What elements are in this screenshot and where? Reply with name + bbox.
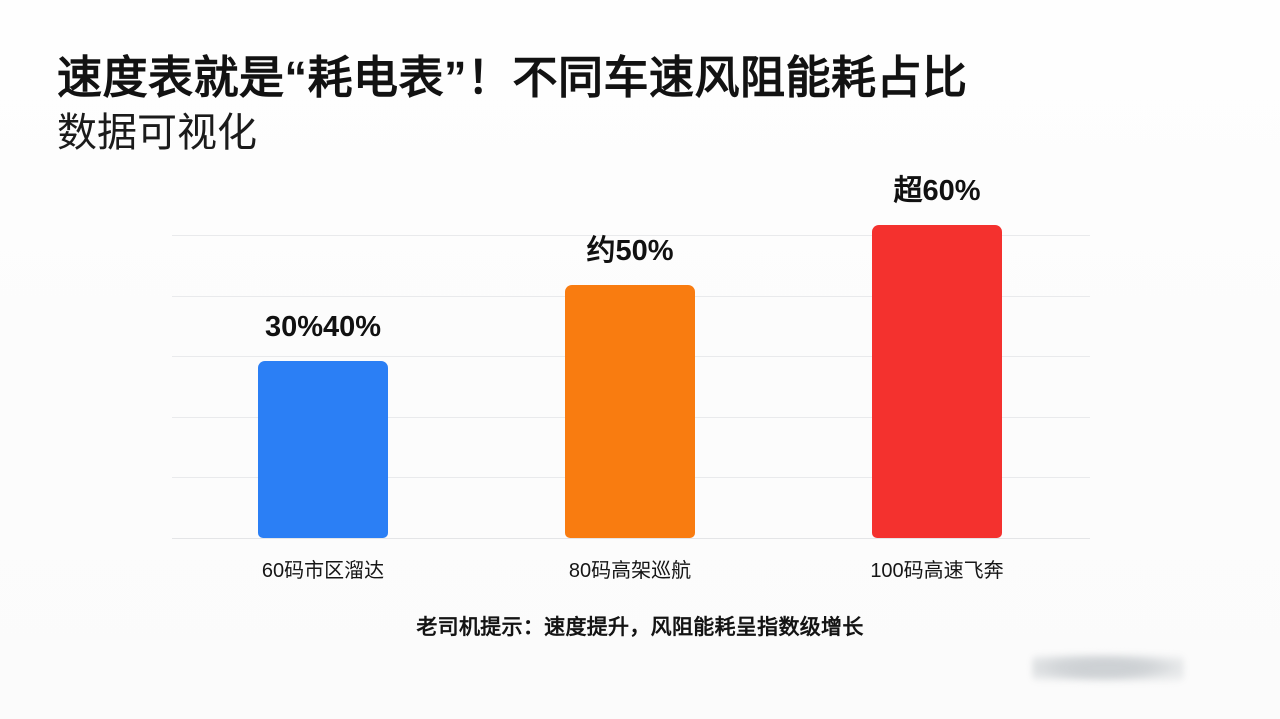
x-axis-category-label: 80码高架巡航 — [569, 561, 691, 581]
header: 速度表就是“耗电表”！不同车速风阻能耗占比 数据可视化 — [57, 52, 1177, 157]
gridline — [172, 417, 1090, 418]
chart-annotation: 老司机提示：速度提升，风阻能耗呈指数级增长 — [0, 611, 1280, 641]
page-subtitle: 数据可视化 — [57, 110, 1177, 156]
gridline — [172, 477, 1090, 478]
gridline — [172, 296, 1090, 297]
gridline — [172, 235, 1090, 236]
bar[interactable] — [258, 361, 388, 538]
bar-value-label: 约50% — [586, 237, 673, 266]
x-axis-category-label: 60码市区溜达 — [262, 561, 384, 581]
bar-value-label: 超60% — [893, 177, 980, 206]
plot-area: 60504020100 — [172, 235, 1090, 538]
bar-value-label: 30%40% — [265, 313, 381, 342]
bar[interactable] — [565, 285, 695, 538]
gridline — [172, 538, 1090, 539]
page-title: 速度表就是“耗电表”！不同车速风阻能耗占比 — [57, 52, 1177, 104]
x-axis-category-label: 100码高速飞奔 — [870, 561, 1003, 581]
bar[interactable] — [872, 225, 1002, 538]
watermark — [1032, 653, 1184, 683]
gridline — [172, 356, 1090, 357]
